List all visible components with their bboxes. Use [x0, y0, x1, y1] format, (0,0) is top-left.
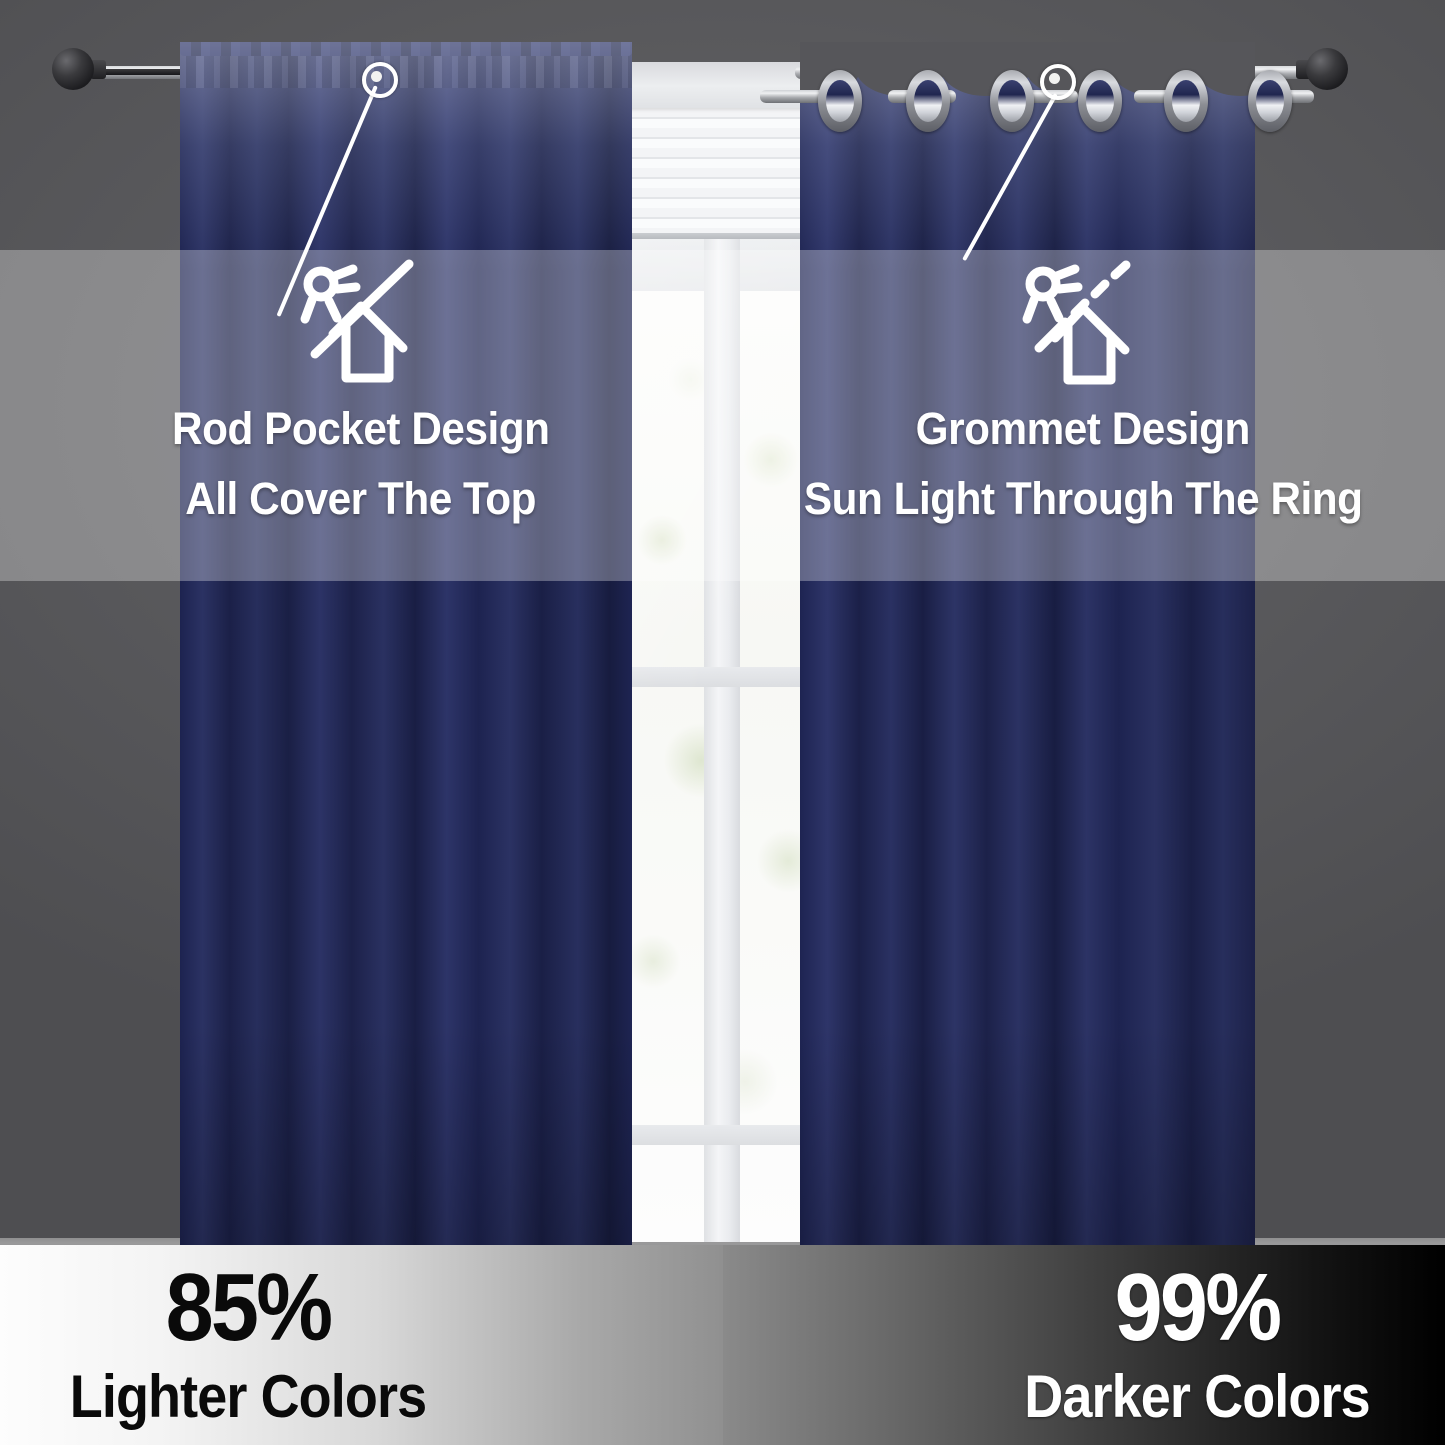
- feature-line-1: Grommet Design: [916, 394, 1250, 464]
- finial-ball-left: [52, 48, 94, 90]
- grommet-hole-3: [1086, 80, 1114, 122]
- grommet-hole-1: [914, 80, 942, 122]
- stats-banner: 85% Lighter Colors 99% Darker Colors: [0, 1245, 1445, 1445]
- grommet-ring-4: [1164, 70, 1208, 132]
- stat-block-lighter: 85% Lighter Colors: [38, 1255, 458, 1433]
- stat-label-darker: Darker Colors: [1008, 1361, 1386, 1433]
- grommet-hole-2: [998, 80, 1026, 122]
- curtain-rod-finial-right: [1300, 48, 1348, 96]
- feature-panel-rod-pocket: Rod Pocket Design All Cover The Top: [0, 250, 722, 581]
- stat-label-lighter: Lighter Colors: [59, 1361, 437, 1433]
- curtain-panel-grommet: [800, 42, 1255, 1282]
- curtain-rod-finial-left: [52, 48, 100, 96]
- grommet-ring-1: [906, 70, 950, 132]
- window-muntin-upper: [626, 667, 820, 687]
- grommet-ring-5: [1248, 70, 1292, 132]
- stat-panel-darker: 99% Darker Colors: [723, 1245, 1445, 1445]
- stat-percent-darker: 99%: [1008, 1255, 1386, 1361]
- stat-panel-lighter: 85% Lighter Colors: [0, 1245, 723, 1445]
- curtain-right-body: [800, 64, 1255, 1282]
- feature-panel-grommet: Grommet Design Sun Light Through The Rin…: [722, 250, 1444, 581]
- stat-block-darker: 99% Darker Colors: [987, 1255, 1407, 1433]
- curtain-left-shadow: [180, 1022, 632, 1282]
- grommet-hole-5: [1256, 80, 1284, 122]
- feature-line-2: Sun Light Through The Ring: [804, 464, 1363, 534]
- curtain-panel-rod-pocket: [180, 42, 632, 1282]
- window-muntin-lower: [626, 1125, 820, 1145]
- sun-blocked-house-icon: [291, 256, 431, 394]
- feature-line-1: Rod Pocket Design: [172, 394, 549, 464]
- grommet-hole-0: [826, 80, 854, 122]
- grommet-hole-4: [1172, 80, 1200, 122]
- grommet-ring-3: [1078, 70, 1122, 132]
- feature-line-2: All Cover The Top: [186, 464, 537, 534]
- grommet-ring-2: [990, 70, 1034, 132]
- product-feature-image: Rod Pocket Design All Cover The Top Grom…: [0, 0, 1445, 1445]
- stat-percent-lighter: 85%: [59, 1255, 437, 1361]
- rod-pocket-edge: [180, 42, 632, 56]
- sun-through-house-icon: [1013, 256, 1153, 394]
- finial-ball-right: [1306, 48, 1348, 90]
- grommet-ring-0: [818, 70, 862, 132]
